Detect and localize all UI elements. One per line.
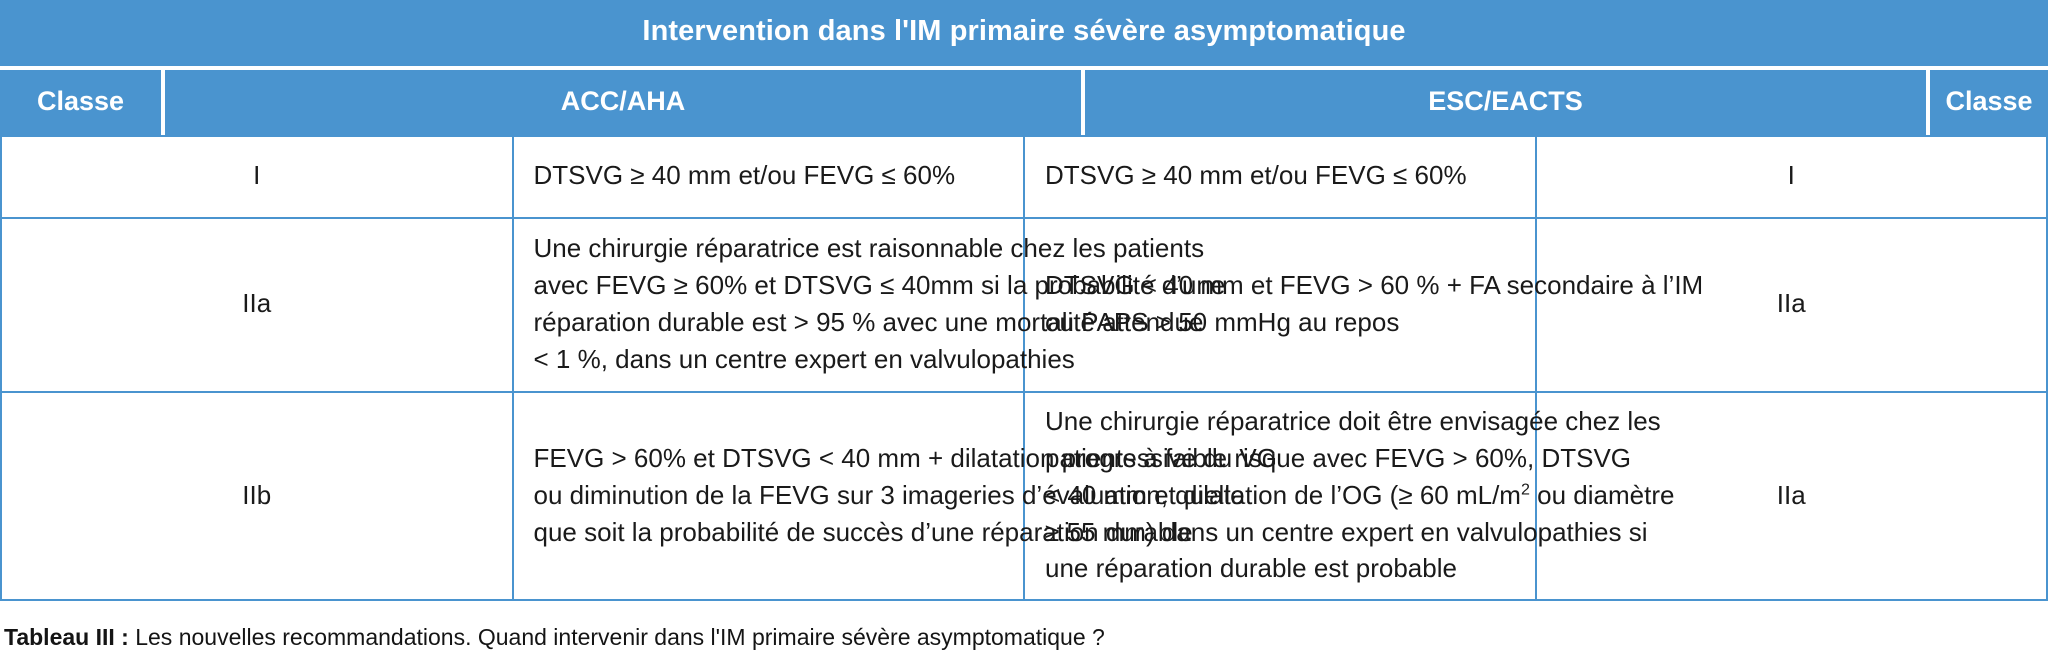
cell-text-line: DTSVG ≥ 40 mm et/ou FEVG ≤ 60% [534, 157, 1010, 194]
cell-text-line: FEVG > 60% et DTSVG < 40 mm + dilatation… [534, 440, 1010, 477]
table-row: IIa Une chirurgie réparatrice est raison… [1, 218, 2047, 392]
cell-text-line: une réparation durable est probable [1045, 550, 1521, 587]
header-class-right: Classe [1928, 68, 2048, 135]
row-class-left: IIb [1, 392, 513, 601]
cell-text-line: < 1 %, dans un centre expert en valvulop… [534, 341, 1010, 378]
header-esc-eacts: ESC/EACTS [1083, 68, 1928, 135]
caption-text: Les nouvelles recommandations. Quand int… [129, 624, 1105, 650]
cell-text-line: que soit la probabilité de succès d’une … [534, 514, 1010, 551]
cell-text-line: ou PAPS > 50 mmHg au repos [1045, 304, 1521, 341]
row-esc-eacts-text: DTSVG ≥ 40 mm et/ou FEVG ≤ 60% [1024, 136, 1536, 218]
row-class-right: IIa [1536, 218, 2048, 392]
table-row: IIb FEVG > 60% et DTSVG < 40 mm + dilata… [1, 392, 2047, 601]
cell-text-line: DTSVG < 40 mm et FEVG > 60 % + FA second… [1045, 267, 1521, 304]
table-header-row: Classe ACC/AHA ESC/EACTS Classe [0, 68, 2048, 135]
cell-text-line: avec FEVG ≥ 60% et DTSVG ≤ 40mm si la pr… [534, 267, 1010, 304]
row-acc-aha-text: Une chirurgie réparatrice est raisonnabl… [513, 218, 1025, 392]
table-title: Intervention dans l'IM primaire sévère a… [0, 0, 2048, 68]
cell-text-line: ou diminution de la FEVG sur 3 imageries… [534, 477, 1010, 514]
row-class-left: I [1, 136, 513, 218]
cell-text-line: patients à faible risque avec FEVG > 60%… [1045, 440, 1521, 477]
table-caption: Tableau III : Les nouvelles recommandati… [0, 623, 2048, 653]
row-class-right: I [1536, 136, 2048, 218]
caption-label: Tableau III : [4, 624, 129, 650]
table-figure: Intervention dans l'IM primaire sévère a… [0, 0, 2048, 665]
table-row: I DTSVG ≥ 40 mm et/ou FEVG ≤ 60% DTSVG ≥… [1, 136, 2047, 218]
row-acc-aha-text: DTSVG ≥ 40 mm et/ou FEVG ≤ 60% [513, 136, 1025, 218]
cell-text-line: ≥ 55 mm) dans un centre expert en valvul… [1045, 514, 1521, 551]
cell-text-line: DTSVG ≥ 40 mm et/ou FEVG ≤ 60% [1045, 157, 1521, 194]
cell-text-line: < 40 mm et dilatation de l’OG (≥ 60 mL/m… [1045, 477, 1521, 514]
row-class-left: IIa [1, 218, 513, 392]
recommendations-table-body: I DTSVG ≥ 40 mm et/ou FEVG ≤ 60% DTSVG ≥… [0, 135, 2048, 602]
header-class-left: Classe [0, 68, 163, 135]
recommendations-table-header: Intervention dans l'IM primaire sévère a… [0, 0, 2048, 135]
table-title-row: Intervention dans l'IM primaire sévère a… [0, 0, 2048, 68]
row-acc-aha-text: FEVG > 60% et DTSVG < 40 mm + dilatation… [513, 392, 1025, 601]
cell-text-line: Une chirurgie réparatrice est raisonnabl… [534, 230, 1010, 267]
cell-text-line: réparation durable est > 95 % avec une m… [534, 304, 1010, 341]
header-acc-aha: ACC/AHA [163, 68, 1083, 135]
cell-text-line: Une chirurgie réparatrice doit être envi… [1045, 403, 1521, 440]
row-esc-eacts-text: Une chirurgie réparatrice doit être envi… [1024, 392, 1536, 601]
